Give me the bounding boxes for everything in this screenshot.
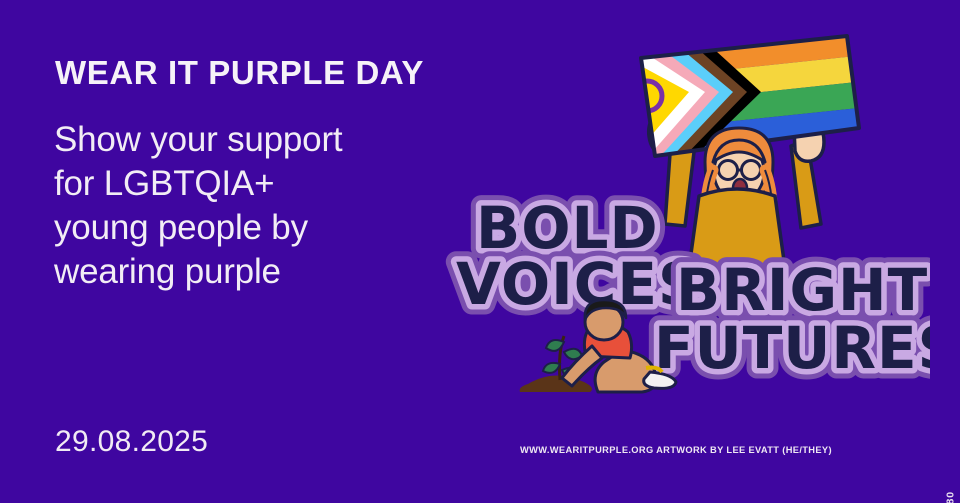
event-date: 29.08.2025 (55, 425, 208, 459)
subheading-line: Show your support (54, 118, 342, 162)
page-title: WEAR IT PURPLE DAY (55, 56, 424, 89)
slogan-bold-voices: BOLD BOLD BOLD VOICES VOICES VOICES (456, 194, 701, 318)
slogan-line-futures: FUTURES (654, 314, 930, 382)
artwork-credit: WWW.WEARITPURPLE.ORG ARTWORK BY LEE EVAT… (520, 445, 832, 455)
subheading: Show your support for LGBTQIA+ young peo… (54, 118, 342, 294)
slogan-bright-futures: BRIGHT BRIGHT BRIGHT FUTURES FUTURES FUT… (654, 256, 930, 382)
subheading-line: for LGBTQIA+ (54, 162, 342, 206)
illustration: .bub-halo { fill:none; stroke:#7a4fae; s… (440, 10, 930, 430)
compliance-code: CRICOS 00025B • TEQSA PRV12080 (944, 491, 956, 503)
slogan-line-voices: VOICES (456, 250, 701, 318)
subheading-line: wearing purple (54, 250, 342, 294)
poster-canvas: WEAR IT PURPLE DAY Show your support for… (0, 0, 960, 503)
subheading-line: young people by (54, 206, 342, 250)
